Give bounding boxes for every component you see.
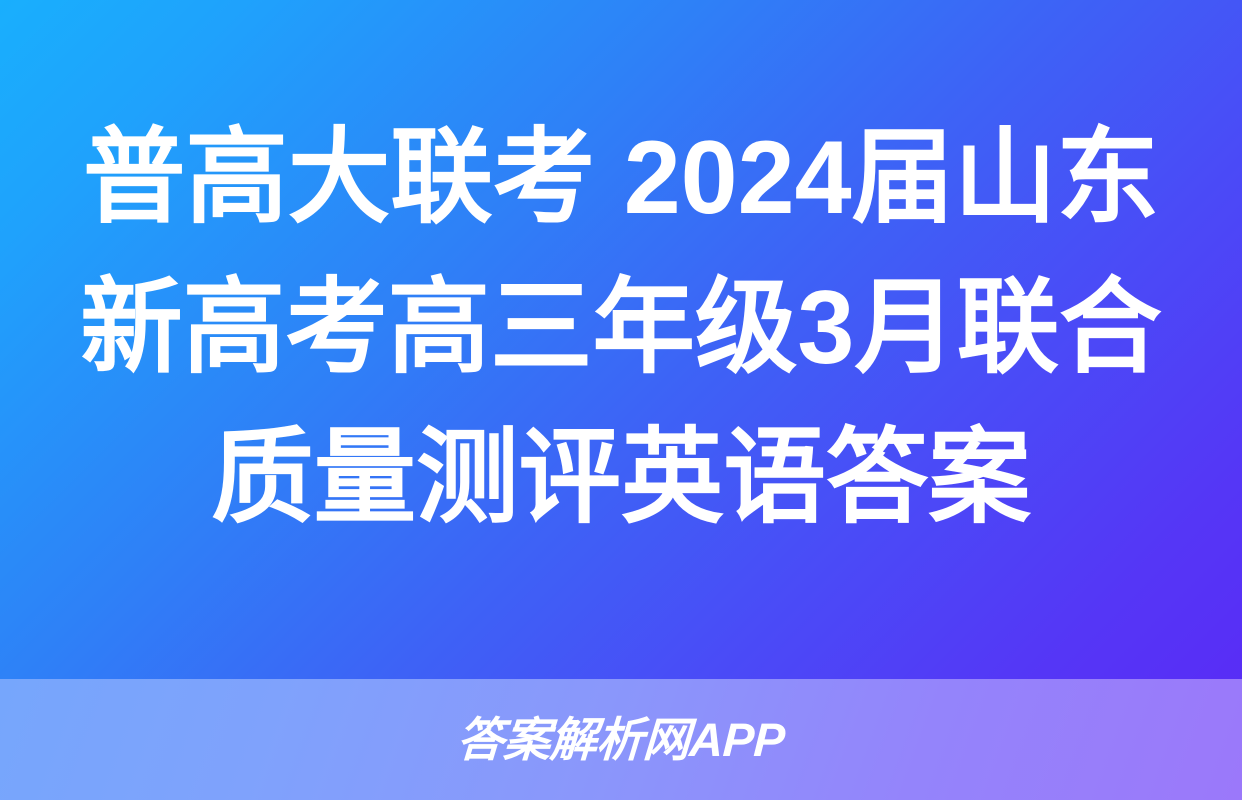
app-brand-watermark: 答案解析网APP [456,716,786,763]
title-line-3: 质量测评英语答案 [55,403,1188,553]
poster-title-block: 普高大联考 2024届山东 新高考高三年级3月联合 质量测评英语答案 [0,0,1242,679]
poster-canvas: 普高大联考 2024届山东 新高考高三年级3月联合 质量测评英语答案 答案解析网… [0,0,1242,800]
footer-watermark-band: 答案解析网APP [0,679,1242,800]
title-line-2: 新高考高三年级3月联合 [55,253,1188,403]
title-line-1: 普高大联考 2024届山东 [55,103,1188,253]
